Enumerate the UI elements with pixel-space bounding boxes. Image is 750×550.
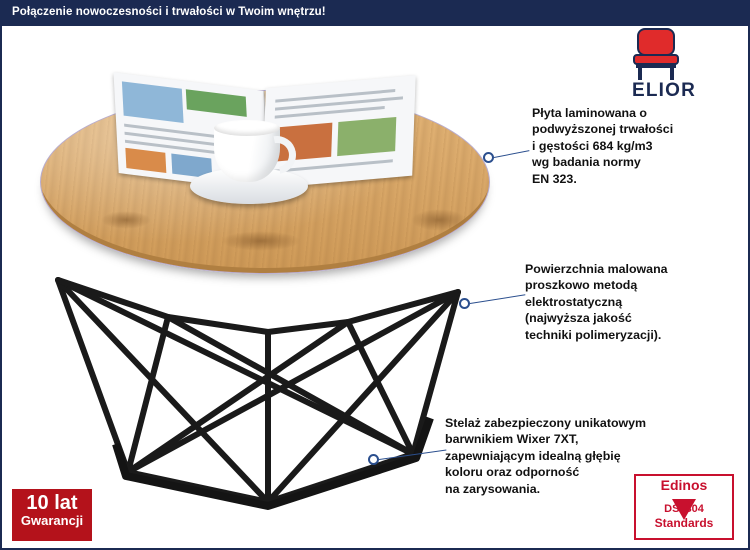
callout-dot-laminate <box>483 152 494 163</box>
warranty-badge: 10 lat Gwarancji <box>12 489 92 541</box>
certificate-badge: Edinos DSI 804 Standards <box>634 474 734 540</box>
brand-name: ELIOR <box>594 80 734 102</box>
brand-logo: ELIOR <box>594 28 734 90</box>
chair-icon <box>628 28 684 80</box>
callout-powder-coat: Powierzchnia malowana proszkowo metodą e… <box>525 261 739 343</box>
callout-dot-frame <box>368 454 379 465</box>
product-photo <box>18 72 518 502</box>
cup-rim <box>214 120 280 136</box>
callout-powder-coat-text: Powierzchnia malowana proszkowo metodą e… <box>525 261 739 343</box>
wire-base <box>18 222 518 512</box>
header-bar: Połączenie nowoczesności i trwałości w T… <box>2 2 748 26</box>
warranty-label: Gwarancji <box>12 513 92 529</box>
product-infographic-page: Połączenie nowoczesności i trwałości w T… <box>0 0 750 550</box>
callout-laminate-text: Płyta laminowana o podwyższonej trwałośc… <box>532 105 738 187</box>
certificate-code: DSI 804 <box>636 503 732 516</box>
callout-dot-powder-coat <box>459 298 470 309</box>
header-title: Połączenie nowoczesności i trwałości w T… <box>12 6 326 18</box>
warranty-years: 10 lat <box>12 493 92 513</box>
callout-laminate: Płyta laminowana o podwyższonej trwałośc… <box>532 105 738 187</box>
certificate-brand: Edinos <box>636 478 732 493</box>
